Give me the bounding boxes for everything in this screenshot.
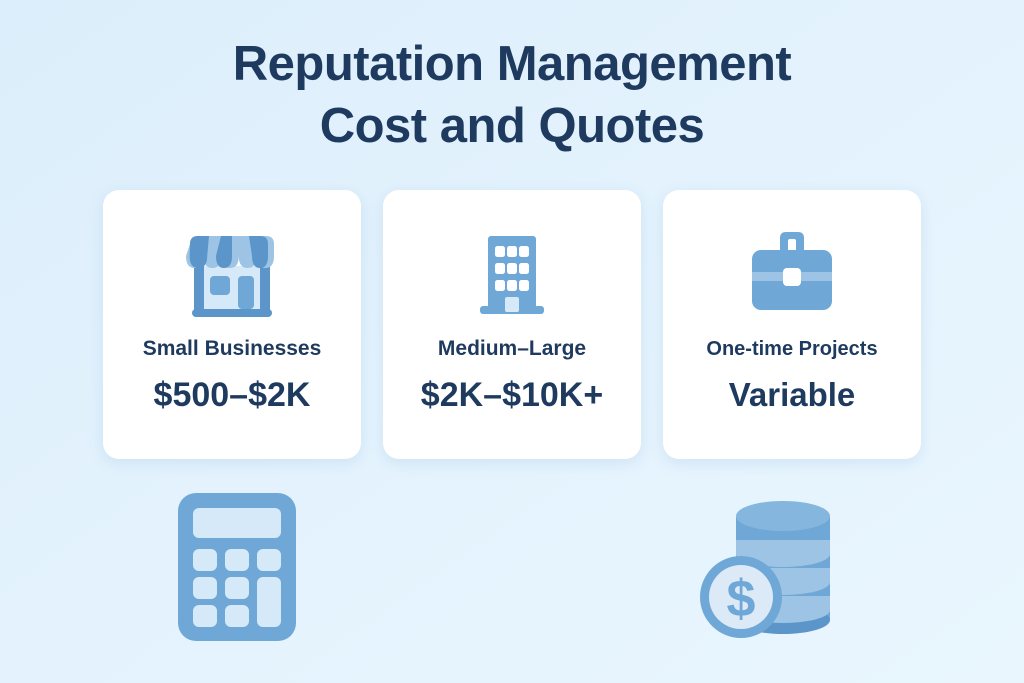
- dollar-sign-glyph: $: [727, 570, 756, 628]
- card-price: Variable: [729, 374, 856, 416]
- pricing-cards-row: Small Businesses $500–$2K: [103, 190, 921, 459]
- infographic-canvas: Reputation Management Cost and Quotes: [0, 0, 1024, 683]
- card-price: $500–$2K: [154, 374, 311, 416]
- title-line-1: Reputation Management: [0, 33, 1024, 95]
- card-label: One-time Projects: [706, 336, 877, 362]
- card-label: Small Businesses: [143, 336, 322, 362]
- pricing-card-one-time-projects[interactable]: One-time Projects Variable: [663, 190, 921, 459]
- briefcase-icon: [736, 218, 848, 330]
- card-price: $2K–$10K+: [421, 374, 603, 416]
- calculator-icon: [176, 491, 298, 643]
- pricing-card-small-businesses[interactable]: Small Businesses $500–$2K: [103, 190, 361, 459]
- storefront-icon: [180, 218, 284, 330]
- card-label: Medium–Large: [438, 336, 586, 362]
- page-title: Reputation Management Cost and Quotes: [0, 33, 1024, 157]
- title-line-2: Cost and Quotes: [0, 95, 1024, 157]
- coin-stack-icon: $: [694, 494, 854, 644]
- pricing-card-medium-large[interactable]: Medium–Large $2K–$10K+: [383, 190, 641, 459]
- office-building-icon: [460, 218, 564, 330]
